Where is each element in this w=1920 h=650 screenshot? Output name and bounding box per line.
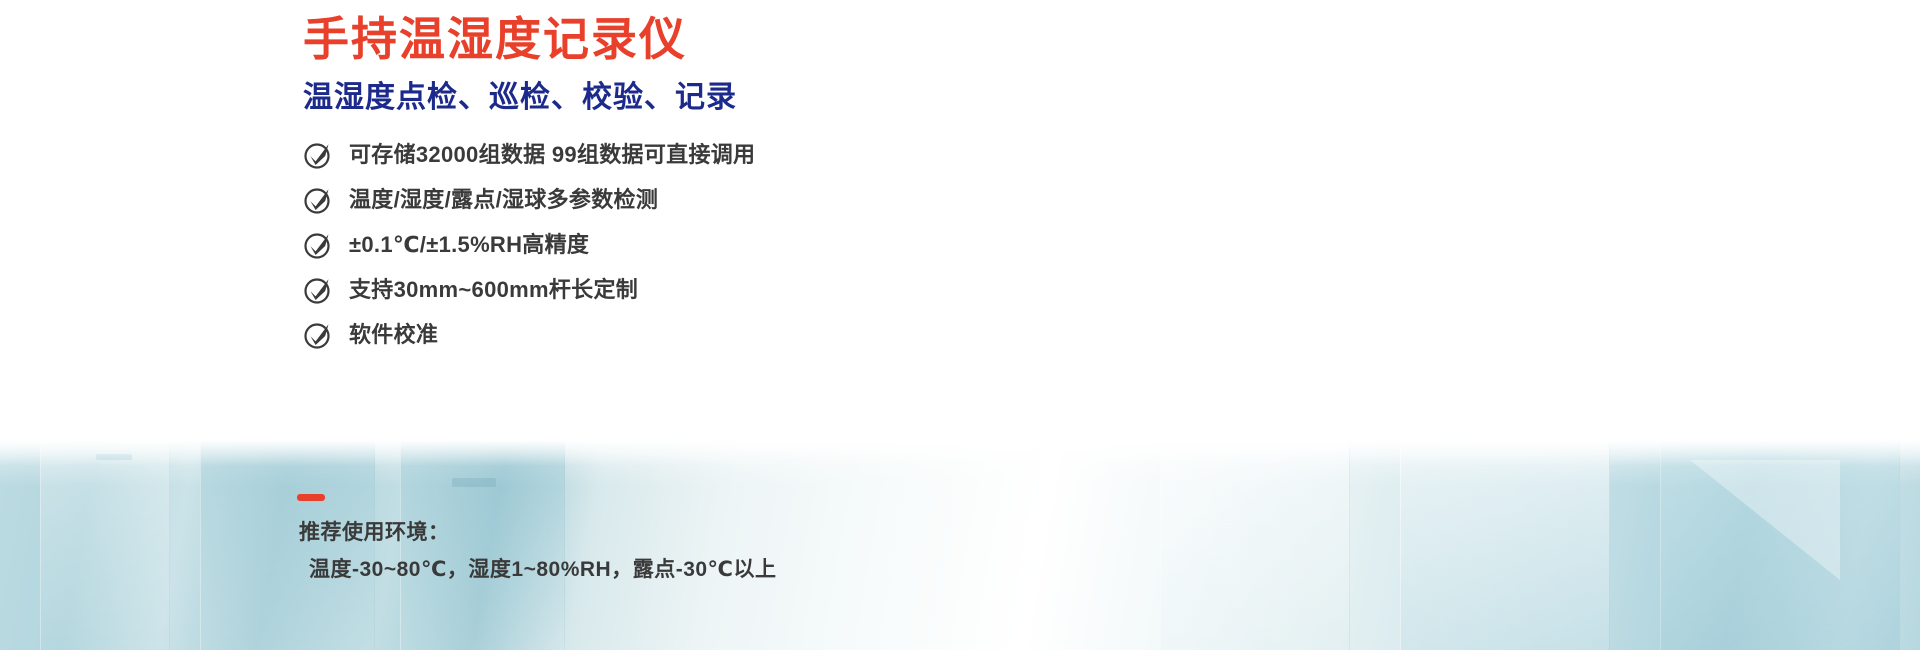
environment-detail: 温度-30~80℃，湿度1~80%RH，露点-30℃以上 — [299, 556, 1019, 584]
check-circle-icon — [303, 140, 333, 170]
handheld-meter: HENGKO 52.0 % RH 28.08 ℃ HG970 MAX/MIN H… — [940, 0, 1920, 650]
environment-heading: 推荐使用环境： — [299, 519, 1019, 547]
list-item: ±0.1℃/±1.5%RH高精度 — [303, 222, 963, 267]
copy-block: 手持温湿度记录仪 温湿度点检、巡检、校验、记录 可存储32000组数据 99组数… — [0, 0, 980, 650]
accent-dash — [297, 494, 325, 501]
product-image-area: 可拆换探头 HENGKO 52.0 % RH 28.08 ℃ HG970 — [940, 0, 1920, 650]
list-item-label: ±0.1℃/±1.5%RH高精度 — [349, 234, 589, 256]
list-item: 软件校准 — [303, 312, 963, 357]
environment-note: 推荐使用环境： 温度-30~80℃，湿度1~80%RH，露点-30℃以上 — [299, 519, 1019, 585]
list-item: 支持30mm~600mm杆长定制 — [303, 267, 963, 312]
list-item-label: 软件校准 — [349, 324, 438, 346]
list-item-label: 温度/湿度/露点/湿球多参数检测 — [349, 189, 658, 211]
check-circle-icon — [303, 275, 333, 305]
check-circle-icon — [303, 230, 333, 260]
page-title: 手持温湿度记录仪 — [303, 12, 687, 66]
product-banner: 手持温湿度记录仪 温湿度点检、巡检、校验、记录 可存储32000组数据 99组数… — [0, 0, 1920, 650]
list-item-label: 支持30mm~600mm杆长定制 — [349, 279, 638, 301]
list-item: 可存储32000组数据 99组数据可直接调用 — [303, 132, 963, 177]
page-subtitle: 温湿度点检、巡检、校验、记录 — [303, 79, 737, 117]
list-item: 温度/湿度/露点/湿球多参数检测 — [303, 177, 963, 222]
check-circle-icon — [303, 320, 333, 350]
feature-list: 可存储32000组数据 99组数据可直接调用 温度/湿度/露点/湿球多参数检测 — [303, 132, 963, 357]
check-circle-icon — [303, 185, 333, 215]
list-item-label: 可存储32000组数据 99组数据可直接调用 — [349, 144, 755, 166]
